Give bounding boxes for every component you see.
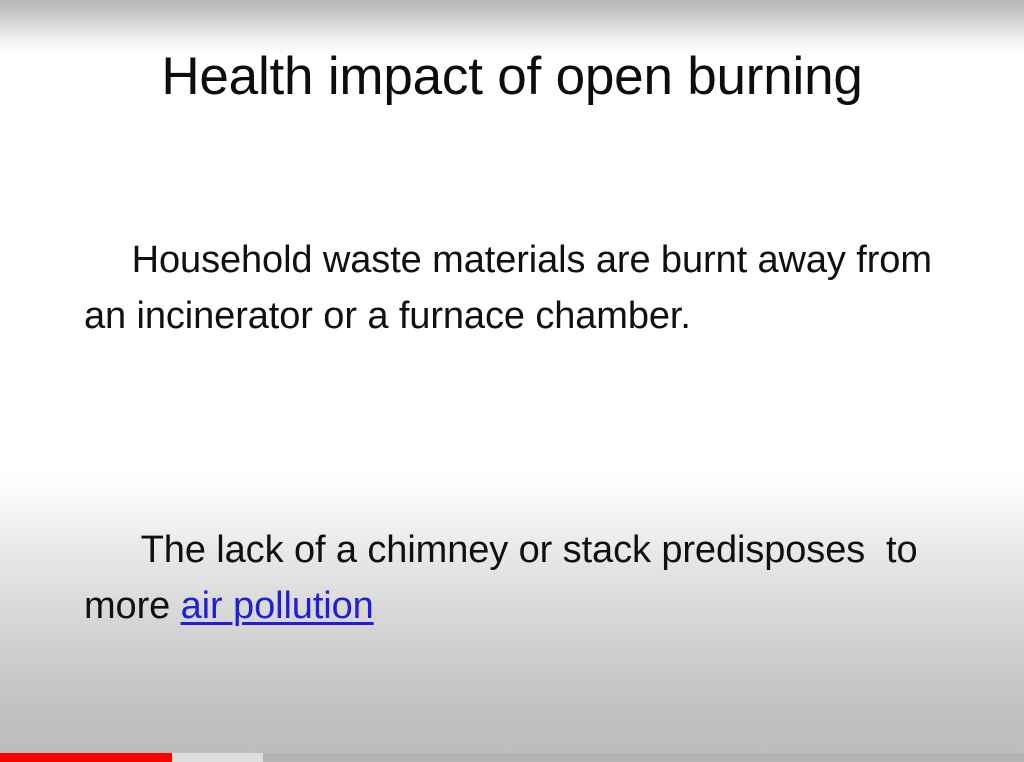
bullet-paragraph-1: Household waste materials are burnt away… <box>44 176 994 456</box>
paragraph-2-line-2: more air pollution <box>57 578 994 634</box>
presentation-slide: Health impact of open burning Household … <box>0 0 1024 762</box>
paragraph-2-line-1: The lack of a chimney or stack predispos… <box>141 529 918 571</box>
video-progress-bar[interactable] <box>0 753 1024 762</box>
air-pollution-hyperlink[interactable]: air pollution <box>181 585 374 627</box>
paragraph-1-line-2: an incinerator or a furnace chamber. <box>48 288 994 344</box>
slide-body: Household waste materials are burnt away… <box>44 176 994 762</box>
video-player-frame: Health impact of open burning Household … <box>0 0 1024 762</box>
paragraph-2-line-2-prefix: more <box>84 585 181 627</box>
paragraph-1-line-1: Household waste materials are burnt away… <box>132 239 932 281</box>
slide-title: Health impact of open burning <box>0 48 1024 106</box>
video-progress-fill <box>0 753 172 762</box>
bullet-paragraph-2: The lack of a chimney or stack predispos… <box>44 466 994 746</box>
